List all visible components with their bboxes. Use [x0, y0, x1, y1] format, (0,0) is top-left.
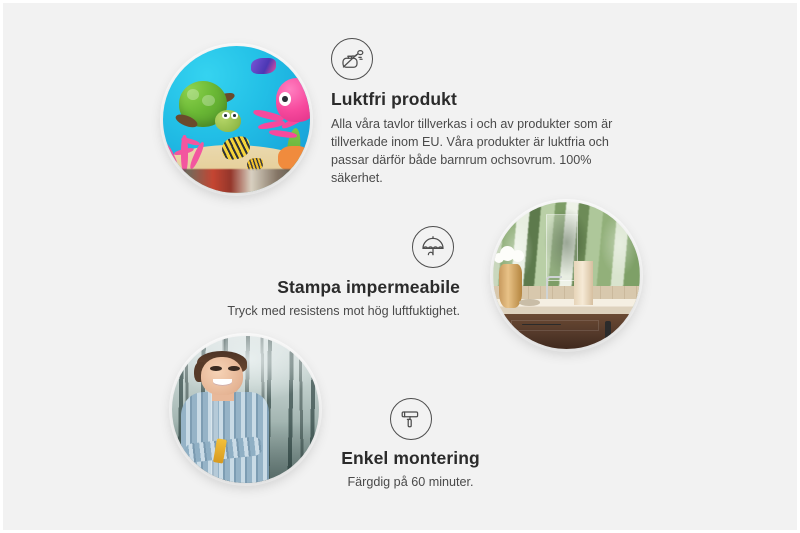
sea-turtle — [176, 80, 245, 139]
feature-title: Stampa impermeabile — [277, 277, 460, 299]
wooden-vanity — [502, 314, 640, 349]
faucet — [546, 276, 562, 301]
feature-block-waterproof: Stampa impermeabile Tryck med resistens … — [175, 226, 460, 321]
octopus — [251, 78, 310, 149]
photo-painter — [172, 336, 319, 483]
blue-fish — [251, 58, 276, 74]
feature-block-easy-mounting: Enkel montering Färgdig på 60 minuter. — [288, 398, 533, 492]
feature-description: Tryck med resistens mot hög luftfuktighe… — [227, 303, 460, 321]
umbrella-icon — [412, 226, 454, 268]
face — [201, 357, 242, 395]
no-fragrance-icon — [331, 38, 373, 80]
feature-block-odourless: Luktfri produkt Alla våra tavlor tillver… — [331, 38, 619, 187]
candle — [574, 261, 593, 305]
photo-sea — [163, 46, 310, 193]
paint-roller-icon — [390, 398, 432, 440]
starfish — [278, 146, 310, 171]
bottom-photo-strip — [163, 169, 310, 193]
photo-bathroom — [493, 202, 640, 349]
feature-description: Alla våra tavlor tillverkas i och av pro… — [331, 116, 617, 188]
feature-title: Enkel montering — [341, 448, 480, 470]
feature-description: Färgdig på 60 minuter. — [347, 474, 473, 492]
feature-infographic: Luktfri produkt Alla våra tavlor tillver… — [0, 0, 800, 533]
feature-title: Luktfri produkt — [331, 89, 457, 111]
